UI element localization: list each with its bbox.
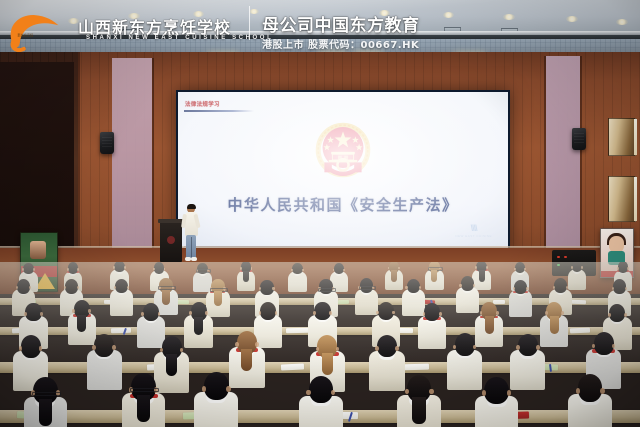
- notebook: [571, 300, 586, 304]
- ear: [600, 388, 604, 394]
- glasses: [359, 286, 376, 290]
- audience-head: [319, 279, 332, 294]
- audience-head: [143, 303, 159, 321]
- ear: [306, 390, 310, 396]
- ear: [553, 286, 555, 289]
- ear: [581, 266, 583, 268]
- ear: [67, 268, 69, 270]
- ear: [524, 268, 526, 270]
- ponytail: [391, 270, 397, 282]
- audience-head: [65, 279, 78, 294]
- poster-portrait: [30, 241, 46, 259]
- wall-speaker-right: [572, 128, 586, 150]
- watermark-listing-info: 港股上市 股票代码：00667.HK: [262, 36, 419, 51]
- lecture-hall-photo: 法律法规学习: [0, 0, 640, 427]
- ear: [302, 269, 304, 271]
- audience-head: [154, 262, 165, 274]
- svg-text:新东方烹饪: 新东方烹饪: [18, 32, 34, 37]
- projection-screen: 法律法规学习: [178, 92, 508, 252]
- ear: [153, 268, 155, 270]
- audience-uniform: [288, 271, 307, 292]
- audience-area: [0, 262, 640, 427]
- audience-head: [21, 335, 41, 357]
- ear: [92, 345, 96, 350]
- audience-head: [455, 333, 475, 355]
- ear: [251, 267, 253, 269]
- right-door-upper[interactable]: [608, 118, 636, 156]
- ear: [612, 344, 616, 349]
- ear: [313, 311, 316, 315]
- audience-head: [260, 302, 276, 320]
- ear: [240, 267, 242, 269]
- audience-head: [204, 372, 229, 400]
- ear: [88, 309, 91, 313]
- audience-member: [397, 375, 441, 427]
- ear: [516, 345, 520, 350]
- audience-uniform: [418, 316, 447, 348]
- ear: [617, 267, 619, 269]
- audience-member: [425, 262, 444, 294]
- ear: [612, 287, 614, 290]
- lectern: [160, 222, 182, 262]
- ear: [77, 286, 79, 289]
- ear: [419, 286, 421, 289]
- ear: [608, 313, 611, 317]
- ear: [536, 345, 540, 350]
- audience-head: [94, 334, 114, 356]
- ear: [255, 342, 259, 347]
- ear: [473, 345, 477, 350]
- glasses: [32, 392, 61, 396]
- audience-member: [87, 334, 122, 397]
- ponytail: [412, 397, 426, 424]
- ear: [112, 345, 116, 350]
- audience-member: [568, 374, 612, 427]
- audience-head: [518, 334, 538, 356]
- ear: [77, 268, 79, 270]
- flame-swoosh-logo-icon: 新东方烹饪: [6, 8, 62, 52]
- audience-member: [475, 377, 519, 427]
- watermark-divider: [249, 6, 250, 40]
- audience-head: [292, 263, 303, 275]
- ponytail: [485, 316, 494, 334]
- audience-head: [378, 302, 394, 320]
- watermark-overlay: 新东方烹饪 山西新东方烹饪学校 SHANXI NEW EAST CUISINE …: [0, 0, 640, 60]
- audience-head: [377, 335, 397, 357]
- ear: [291, 269, 293, 271]
- ponytail: [166, 354, 177, 376]
- ear: [459, 284, 461, 287]
- audience-head: [554, 278, 567, 293]
- ponytail: [550, 316, 559, 334]
- ear: [473, 284, 475, 287]
- audience-member: [194, 372, 238, 427]
- ear: [514, 268, 516, 270]
- left-wall-acoustic-panel: [112, 58, 152, 258]
- ear: [202, 386, 206, 392]
- audience-member: [24, 377, 68, 427]
- ponytail: [194, 317, 203, 335]
- ear: [29, 286, 31, 289]
- ear: [405, 286, 407, 289]
- ear: [439, 312, 442, 316]
- ear: [272, 287, 274, 290]
- ponytail: [479, 270, 485, 282]
- ponytail: [39, 399, 53, 426]
- audience-head: [309, 376, 334, 404]
- slide-watermark-sub: NEW EAST CUISINE: [455, 234, 492, 238]
- status-led: [564, 256, 567, 258]
- ear: [395, 346, 399, 351]
- audience-head: [578, 374, 603, 402]
- ear: [545, 311, 548, 315]
- presenter-shoe: [191, 257, 197, 261]
- notebook: [338, 300, 349, 304]
- ear: [226, 386, 230, 392]
- watermark-school-name-en: SHANXI NEW EAST CUISINE SCHOOL: [86, 35, 273, 41]
- glasses: [196, 269, 211, 273]
- audience-head: [424, 303, 440, 321]
- ponytail: [214, 291, 221, 306]
- status-led: [557, 256, 560, 258]
- slide-watermark-mark: \\\\: [455, 223, 492, 233]
- ear: [329, 311, 332, 315]
- audience-member: [509, 280, 532, 321]
- presenter-speaking: [183, 205, 199, 263]
- audience-head: [407, 279, 420, 294]
- projection-screen-frame: 法律法规学习: [176, 90, 510, 254]
- watermark-parent-company: 母公司中国东方教育: [262, 11, 420, 36]
- audience-member: [122, 373, 166, 427]
- ear: [486, 266, 488, 268]
- ear: [526, 287, 528, 290]
- ear: [398, 267, 400, 269]
- ear: [429, 389, 433, 395]
- audience-member: [288, 263, 307, 296]
- audience-head: [461, 276, 474, 291]
- audience-head: [314, 302, 330, 320]
- ponytail: [241, 349, 252, 371]
- slide-tag-underline: [184, 110, 254, 112]
- ear: [571, 266, 573, 268]
- national-emblem-of-china-icon: [312, 119, 374, 181]
- slide-watermark: \\\\ NEW EAST CUISINE: [455, 223, 492, 238]
- audience-uniform: [110, 289, 133, 316]
- audience-uniform: [509, 290, 532, 317]
- audience-head: [613, 279, 626, 294]
- glasses: [130, 388, 159, 392]
- ear: [624, 313, 627, 317]
- right-door-lower[interactable]: [608, 176, 636, 222]
- ear: [164, 268, 166, 270]
- ear: [625, 287, 627, 290]
- ear: [124, 266, 126, 268]
- audience-member: [299, 376, 343, 427]
- ear: [331, 390, 335, 396]
- presenter-legs: [186, 235, 196, 259]
- ear: [392, 311, 395, 315]
- ear: [375, 346, 379, 351]
- lectern-emblem-icon: [167, 236, 175, 244]
- ponytail: [431, 270, 437, 282]
- ear: [343, 269, 345, 271]
- wall-seam: [152, 58, 154, 258]
- ear: [235, 342, 239, 347]
- ear: [24, 312, 27, 316]
- ear: [561, 311, 564, 315]
- audience-member: [237, 262, 256, 294]
- ear: [507, 390, 511, 396]
- ear: [627, 267, 629, 269]
- glasses: [318, 288, 335, 292]
- ponytail: [77, 315, 86, 333]
- audience-head: [25, 303, 41, 321]
- audience-member: [385, 262, 404, 294]
- ponytail: [243, 271, 249, 283]
- presenter-hair: [187, 204, 196, 209]
- ponytail: [322, 353, 333, 375]
- ear: [158, 312, 161, 316]
- slide-title: 中华人民共和国《安全生产法》: [178, 194, 508, 215]
- audience-head: [484, 377, 509, 405]
- ear: [566, 286, 568, 289]
- ear: [576, 388, 580, 394]
- slide-section-tag: 法律法规学习: [185, 100, 220, 108]
- ear: [33, 268, 35, 270]
- ear: [127, 286, 129, 289]
- ear: [496, 311, 499, 315]
- ear: [64, 286, 66, 289]
- ponytail: [137, 395, 151, 422]
- audience-member: [110, 279, 133, 320]
- wall-speaker-left: [100, 132, 114, 154]
- audience-head: [594, 332, 614, 354]
- audience-member: [418, 303, 447, 353]
